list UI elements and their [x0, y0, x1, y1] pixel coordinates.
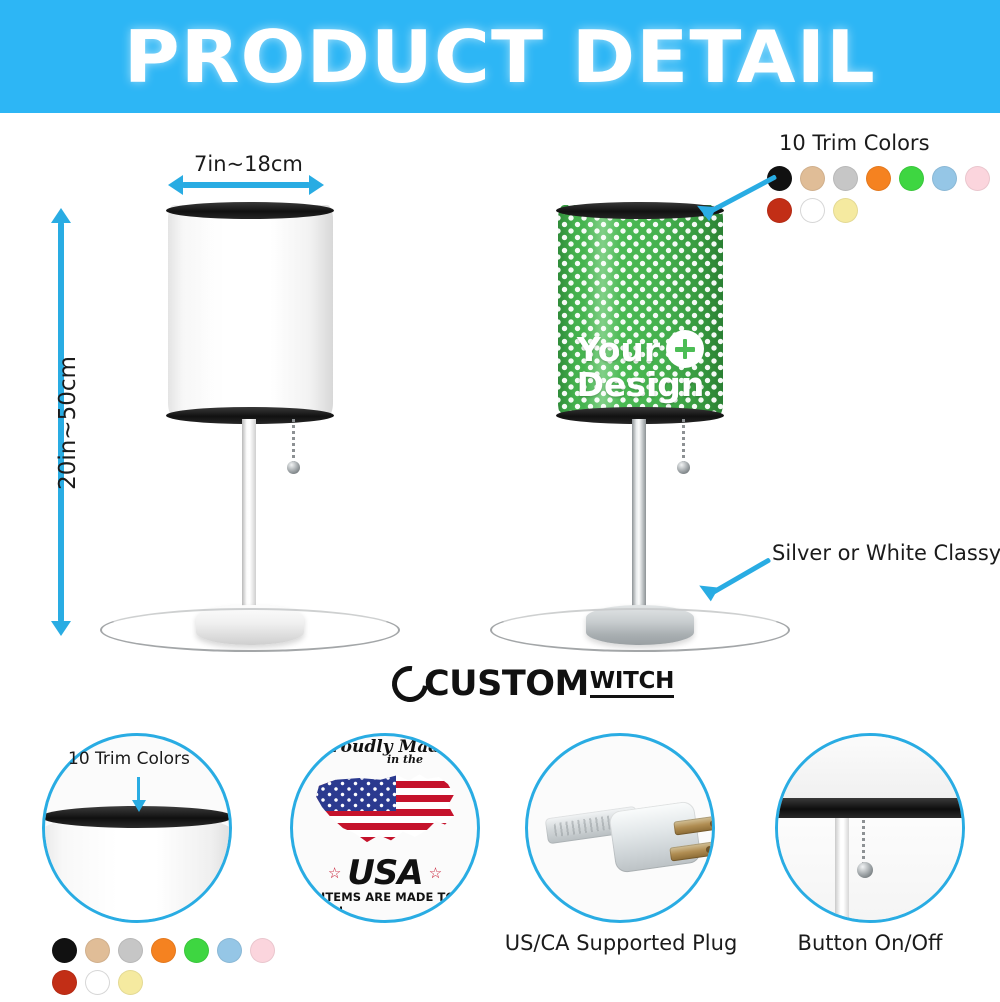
feature-made-in-usa: Proudly Made in the ☆ USA ☆ ALL ITEMS AR… — [290, 733, 510, 923]
star-icon-left: ☆ — [328, 864, 341, 882]
trim-swatch-pink[interactable] — [965, 166, 990, 191]
usa-line-1: Proudly Made — [319, 739, 451, 756]
page-title: PRODUCT DETAIL — [124, 21, 876, 93]
power-cord-ring — [100, 608, 400, 652]
product-detail-infographic: PRODUCT DETAIL 7in~18cm 20in~50cm Your — [0, 0, 1000, 1000]
trim-colors-title: 10 Trim Colors — [779, 131, 930, 155]
trim-swatch-yellow[interactable] — [118, 970, 143, 995]
trim-swatch-green[interactable] — [184, 938, 209, 963]
pull-chain-ball[interactable] — [287, 461, 300, 474]
trim-swatch-tan[interactable] — [85, 938, 110, 963]
feature-button-caption: Button On/Off — [775, 931, 965, 955]
header-banner: PRODUCT DETAIL — [0, 0, 1000, 113]
trim-swatch-green[interactable] — [899, 166, 924, 191]
logo-word-custom: CUSTOM — [424, 664, 589, 704]
lamp-pole-silver — [632, 419, 646, 613]
trim-swatch-yellow[interactable] — [833, 198, 858, 223]
trim-swatch-pink[interactable] — [250, 938, 275, 963]
trim-top-black — [166, 202, 334, 219]
trim-swatch-orange[interactable] — [866, 166, 891, 191]
pull-chain-closeup[interactable] — [862, 820, 865, 868]
star-icon-right: ☆ — [429, 864, 442, 882]
trim-swatch-white[interactable] — [85, 970, 110, 995]
lampshade-white — [168, 205, 333, 417]
pull-chain[interactable] — [292, 419, 295, 467]
pull-chain[interactable] — [682, 419, 685, 467]
lamp-pole — [242, 419, 256, 613]
trim-swatch-orange[interactable] — [151, 938, 176, 963]
trim-swatch-gray[interactable] — [833, 166, 858, 191]
feature-button: Button On/Off — [775, 733, 995, 958]
your-design-overlay: Your Design — [558, 330, 723, 401]
logo-word-witch: WITCH — [590, 670, 674, 693]
trim-color-swatches-top[interactable] — [767, 166, 1000, 230]
feature-trim-caption: 10 Trim Colors — [68, 749, 190, 769]
trim-swatch-gray[interactable] — [118, 938, 143, 963]
trim-swatch-tan[interactable] — [800, 166, 825, 191]
width-dimension-arrow — [182, 182, 310, 188]
trim-swatch-white[interactable] — [800, 198, 825, 223]
trim-down-arrow — [137, 777, 140, 801]
trim-swatch-dark-red[interactable] — [52, 970, 77, 995]
power-cord-ring — [490, 608, 790, 652]
us-plug-icon — [546, 794, 715, 889]
logo-underline — [590, 695, 674, 698]
usa-line-4: ALL ITEMS ARE MADE TO ORDER! — [293, 890, 477, 918]
usa-map-flag-icon — [310, 767, 460, 855]
feature-circle-plug — [525, 733, 715, 923]
height-dimension-label: 20in~50cm — [55, 338, 81, 508]
header-divider — [0, 113, 1000, 118]
feature-trim-colors: 10 Trim Colors — [42, 733, 262, 923]
design-line-1: Your — [577, 333, 660, 366]
lampshade-green: Your Design — [558, 205, 723, 417]
pull-chain-ball-closeup[interactable] — [857, 862, 873, 878]
base-finish-label: Silver or White Classy — [772, 541, 1000, 565]
feature-plug-caption: US/CA Supported Plug — [503, 931, 739, 955]
usa-line-3: USA — [347, 856, 422, 890]
brand-logo: CUSTOM WITCH — [392, 664, 674, 704]
lamp-white — [160, 205, 340, 635]
pull-chain-ball[interactable] — [677, 461, 690, 474]
trim-swatch-light-blue[interactable] — [217, 938, 242, 963]
trim-pointer-arrow — [700, 170, 790, 230]
base-pointer-arrow — [700, 555, 780, 605]
feature-circle-usa: Proudly Made in the ☆ USA ☆ ALL ITEMS AR… — [290, 733, 480, 923]
feature-plug: US/CA Supported Plug — [525, 733, 745, 958]
trim-swatch-light-blue[interactable] — [932, 166, 957, 191]
design-line-2: Design — [577, 368, 705, 401]
trim-swatch-black[interactable] — [52, 938, 77, 963]
width-dimension-label: 7in~18cm — [194, 152, 303, 176]
feature-circle-button — [775, 733, 965, 923]
trim-color-swatches-bottom[interactable] — [52, 938, 302, 1002]
plus-icon[interactable] — [666, 330, 704, 368]
usa-line-2: in the — [387, 753, 423, 766]
